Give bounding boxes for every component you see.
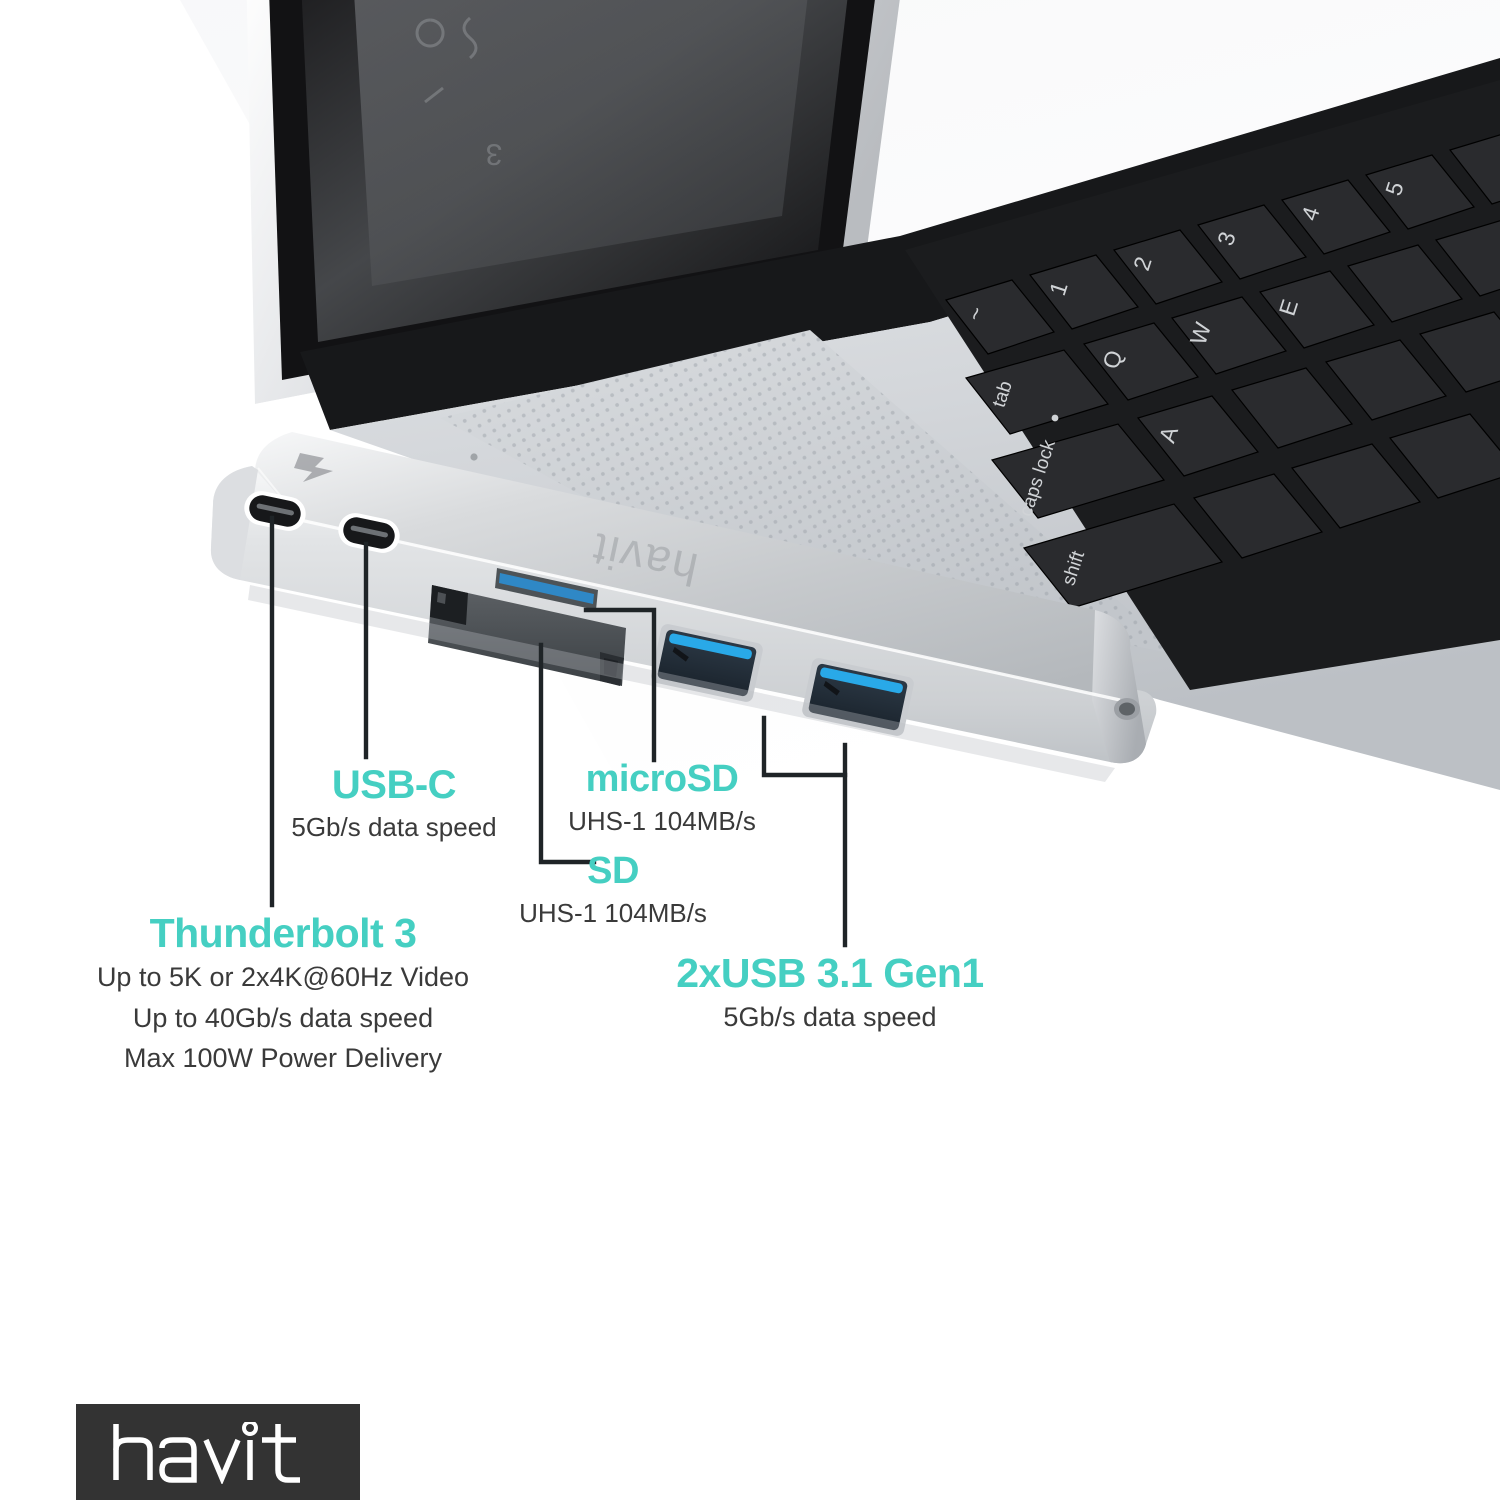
callout-thunderbolt: Thunderbolt 3 Up to 5K or 2x4K@60Hz Vide… xyxy=(48,912,518,1077)
infographic-canvas: 3 xyxy=(0,0,1500,1500)
callout-usb31: 2xUSB 3.1 Gen1 5Gb/s data speed xyxy=(610,952,1050,1036)
hub-screw-hole xyxy=(1114,698,1140,720)
havit-logo xyxy=(76,1404,360,1500)
callout-microsd-sub-0: UHS-1 104MB/s xyxy=(512,804,812,838)
callout-thunderbolt-sub-0: Up to 5K or 2x4K@60Hz Video xyxy=(48,960,518,996)
callout-usbc-sub-0: 5Gb/s data speed xyxy=(234,810,554,844)
svg-text:3: 3 xyxy=(485,137,502,170)
callout-usbc-title: USB-C xyxy=(234,764,554,806)
callout-microsd: microSD UHS-1 104MB/s xyxy=(512,760,812,838)
havit-wordmark-icon xyxy=(110,1422,326,1484)
section-header: STRUCTURAL PARAMETERS Interface function… xyxy=(0,1175,1500,1345)
callout-usb31-title: 2xUSB 3.1 Gen1 xyxy=(610,952,1050,995)
callout-thunderbolt-title: Thunderbolt 3 xyxy=(48,912,518,955)
callout-thunderbolt-sub-2: Max 100W Power Delivery xyxy=(48,1041,518,1077)
callout-sd-title: SD xyxy=(448,852,778,892)
callout-thunderbolt-sub-1: Up to 40Gb/s data speed xyxy=(48,1001,518,1037)
callout-microsd-title: microSD xyxy=(512,760,812,800)
callout-usbc: USB-C 5Gb/s data speed xyxy=(234,764,554,844)
callout-usb31-sub-0: 5Gb/s data speed xyxy=(610,1000,1050,1036)
led-indicator-dot xyxy=(470,453,477,460)
